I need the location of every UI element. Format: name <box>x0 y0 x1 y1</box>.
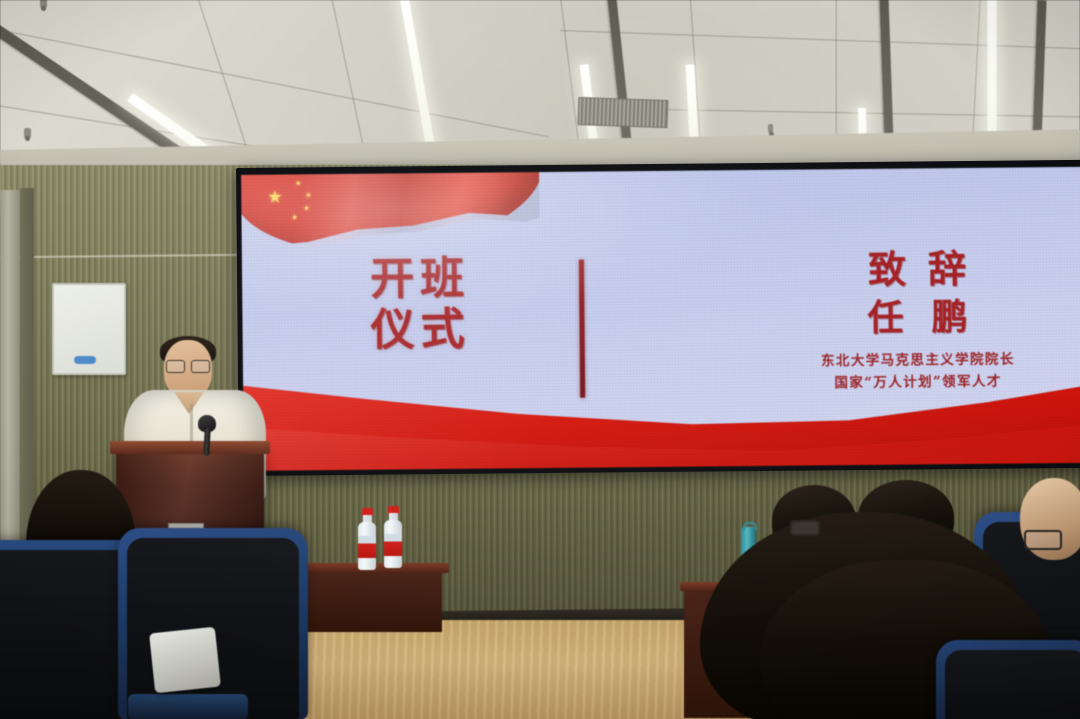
auditorium-seat <box>118 528 308 719</box>
podium-top-surface <box>110 441 270 454</box>
seat-armrest <box>128 694 248 719</box>
panel-indicator <box>74 356 96 364</box>
slide-speech-title: 致辞 <box>752 245 1080 295</box>
led-display-screen: ★ ★ ★ ★ ★ 开班 仪式 致辞 任鹏 东北大学马克思主义学院院长 <box>236 160 1080 476</box>
ceiling-sprinkler <box>768 124 773 133</box>
photo-scene: ★ ★ ★ ★ ★ 开班 仪式 致辞 任鹏 东北大学马克思主义学院院长 <box>0 0 1080 719</box>
wall-control-panel[interactable] <box>52 283 126 375</box>
slide-left-line-1: 开班 <box>370 253 470 305</box>
auditorium-seat <box>936 640 1080 719</box>
seat-cushion <box>945 650 1080 719</box>
speaker-eyeglasses <box>166 360 210 371</box>
slide-left-title: 开班 仪式 <box>370 253 471 356</box>
side-table <box>298 570 442 632</box>
audience-eyeglasses <box>1024 530 1062 550</box>
water-bottle[interactable] <box>384 506 402 568</box>
bottle-label <box>384 534 402 556</box>
ceiling-sprinkler <box>24 128 31 138</box>
audience-eyeglasses <box>790 520 820 536</box>
slide-text-layer: 开班 仪式 致辞 任鹏 东北大学马克思主义学院院长 国家“万人计划”领军人才 <box>241 167 1080 471</box>
white-tote-bag[interactable] <box>149 627 221 694</box>
slide-credential-line-2: 国家“万人计划”领军人才 <box>753 371 1080 395</box>
bottle-label <box>358 536 376 558</box>
slide-credential-line-1: 东北大学马克思主义学院院长 <box>753 349 1080 373</box>
water-bottle[interactable] <box>358 508 376 570</box>
slide-left-line-2: 仪式 <box>370 304 470 356</box>
slide-divider-bar <box>579 260 585 398</box>
slide-canvas: ★ ★ ★ ★ ★ 开班 仪式 致辞 任鹏 东北大学马克思主义学院院长 <box>241 167 1080 471</box>
slide-right-block: 致辞 任鹏 东北大学马克思主义学院院长 国家“万人计划”领军人才 <box>752 245 1080 395</box>
ceiling-air-vent <box>578 97 669 128</box>
slide-speaker-name: 任鹏 <box>752 293 1080 342</box>
ceiling-sprinkler <box>40 0 47 8</box>
